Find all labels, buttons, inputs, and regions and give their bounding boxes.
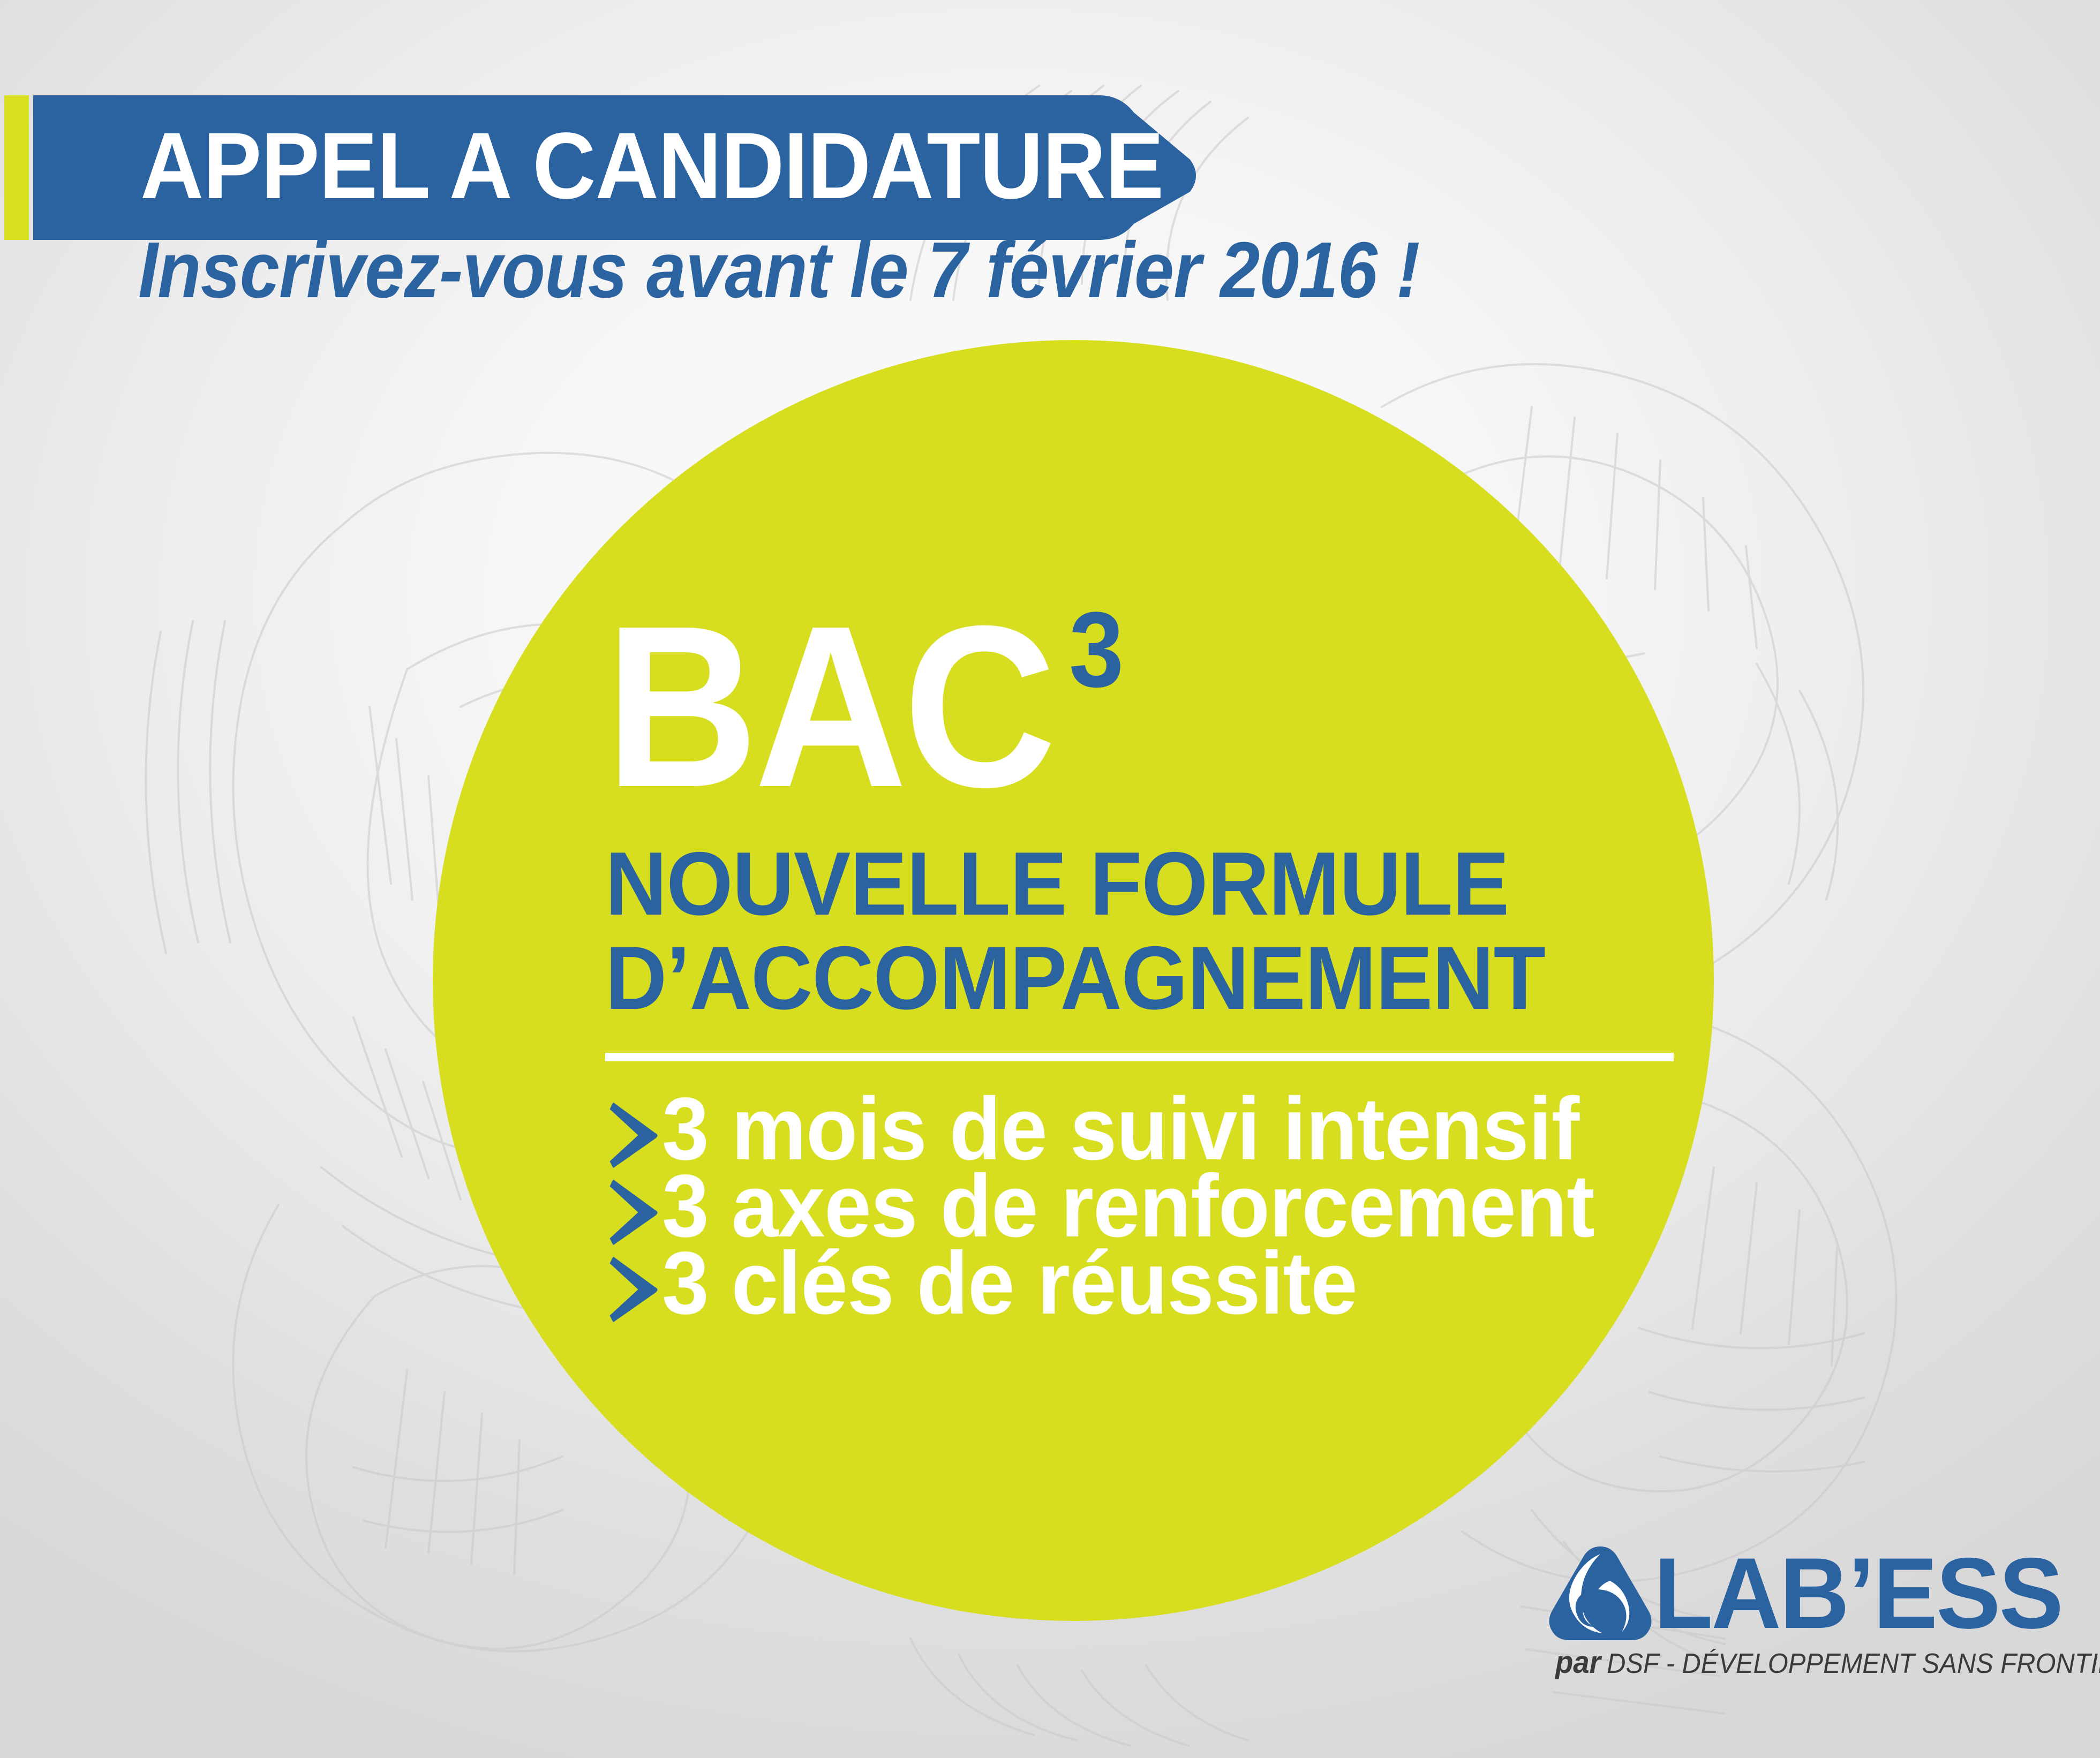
logo-tagline-prefix: par xyxy=(1555,1645,1601,1680)
chevron-right-icon xyxy=(605,1243,662,1326)
logo-wordmark: LAB’ESS xyxy=(1654,1543,2062,1643)
headline-line-1: NOUVELLE FORMULE xyxy=(605,836,1643,931)
labess-logo: LAB’ESS parDSF - DÉVELOPPEMENT SANS FRON… xyxy=(1542,1542,2083,1676)
logo-row: LAB’ESS xyxy=(1542,1542,2083,1644)
bullet-label: 3 clés de réussite xyxy=(662,1243,1357,1324)
bullet-list: 3 mois de suivi intensif 3 axes de renfo… xyxy=(605,1089,1698,1321)
labess-triangle-swirl-icon xyxy=(1542,1542,1658,1644)
circle-content: BAC3 NOUVELLE FORMULE D’ACCOMPAGNEMENT 3… xyxy=(605,600,1698,1321)
banner-title: APPEL A CANDIDATURE xyxy=(140,114,1087,221)
list-item: 3 mois de suivi intensif xyxy=(605,1089,1698,1166)
poster-canvas: APPEL A CANDIDATURE Inscrivez-vous avant… xyxy=(0,0,2100,1758)
list-item: 3 axes de renforcement xyxy=(605,1166,1698,1243)
logo-tagline-text: DSF - DÉVELOPPEMENT SANS FRONTIÈRES xyxy=(1607,1648,2100,1679)
divider-rule xyxy=(605,1053,1674,1061)
banner-accent-bar xyxy=(4,95,29,240)
header-banner: APPEL A CANDIDATURE xyxy=(0,95,1200,240)
program-name: BAC xyxy=(605,600,1052,814)
chevron-right-icon xyxy=(605,1166,662,1249)
headline-line-2: D’ACCOMPAGNEMENT xyxy=(605,931,1643,1025)
program-exponent: 3 xyxy=(1069,597,1124,704)
logo-tagline: parDSF - DÉVELOPPEMENT SANS FRONTIÈRES xyxy=(1555,1647,2100,1679)
header-subtitle: Inscrivez-vous avant le 7 février 2016 ! xyxy=(138,225,1419,316)
chevron-right-icon xyxy=(605,1089,662,1172)
program-title-line: BAC3 xyxy=(605,600,1698,825)
